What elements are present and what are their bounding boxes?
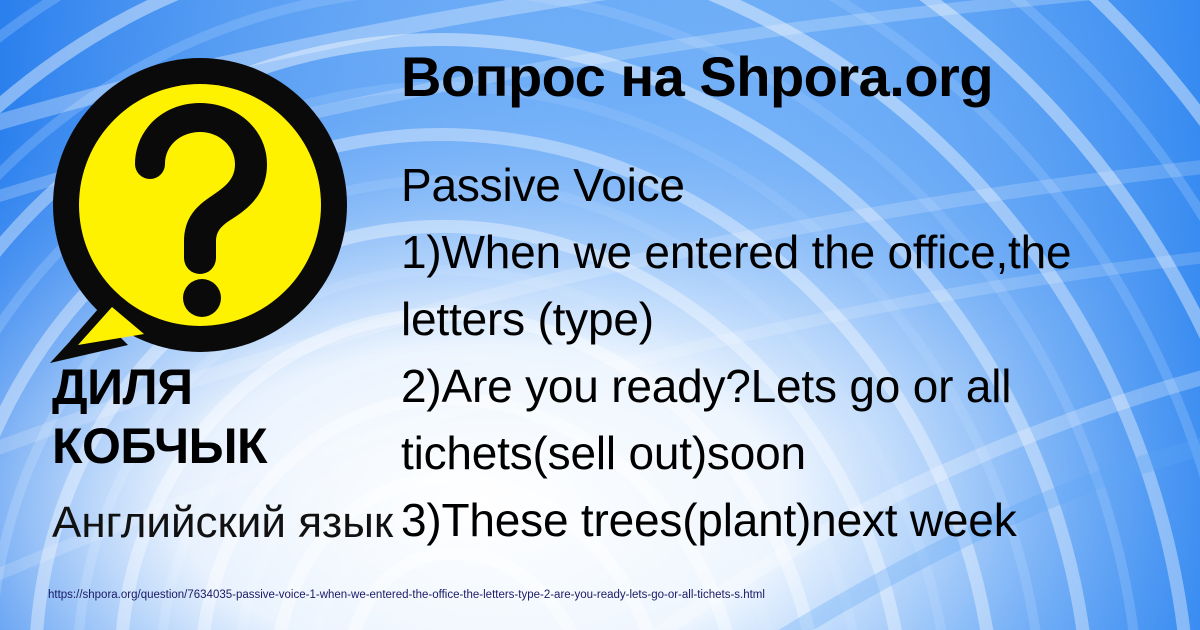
question-speech-bubble-icon — [40, 45, 360, 365]
author-name: ДИЛЯ КОБЧЫК — [52, 358, 412, 476]
page-title: Вопрос на Shpora.org — [401, 44, 993, 110]
question-text: Passive Voice 1)When we entered the offi… — [401, 152, 1200, 554]
question-share-card: ДИЛЯ КОБЧЫК Английский язык Вопрос на Sh… — [0, 0, 1200, 630]
subject-label: Английский язык — [52, 497, 393, 549]
source-url[interactable]: https://shpora.org/question/7634035-pass… — [48, 588, 765, 602]
